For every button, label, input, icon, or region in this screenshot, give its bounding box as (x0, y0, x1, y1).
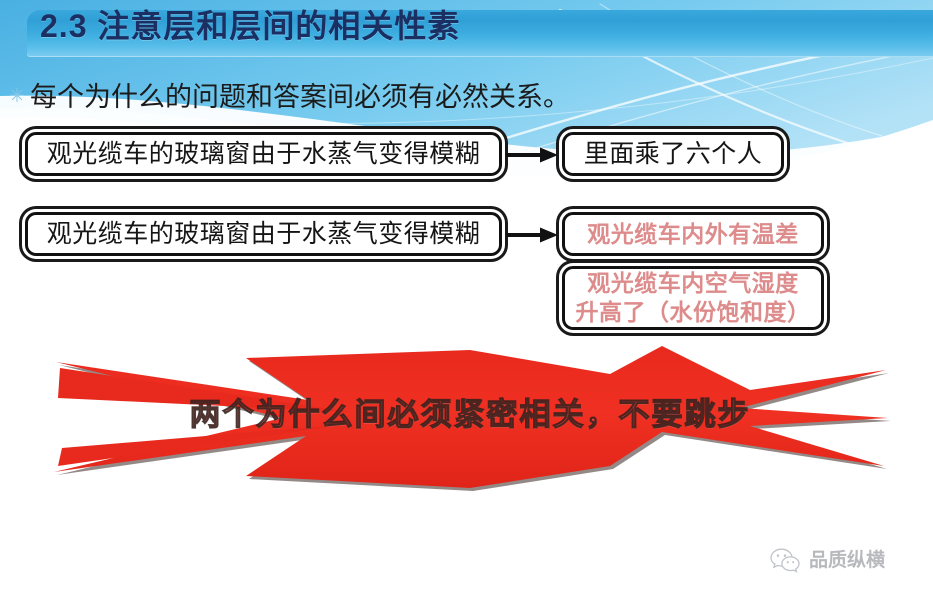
starburst-text: 两个为什么间必须紧密相关，不要跳步 (50, 396, 890, 434)
reason-box-1: 观光缆车内外有温差 (562, 212, 824, 256)
arrow-right-icon-1 (506, 145, 560, 165)
question-box-2: 观光缆车的玻璃窗由于水蒸气变得模糊 (25, 212, 502, 256)
question-box-2-label: 观光缆车的玻璃窗由于水蒸气变得模糊 (47, 219, 481, 249)
asterisk-bullet-icon: ✳ (8, 87, 26, 106)
reason-box-2-label: 观光缆车内空气湿度 升高了（水份饱和度） (576, 269, 811, 327)
starburst-callout: 两个为什么间必须紧密相关，不要跳步 (50, 340, 890, 492)
watermark-label: 品质纵横 (809, 550, 885, 572)
bullet-row: ✳ 每个为什么的问题和答案间必须有必然关系。 (8, 78, 908, 118)
question-box-1-label: 观光缆车的玻璃窗由于水蒸气变得模糊 (47, 139, 481, 169)
question-box-1: 观光缆车的玻璃窗由于水蒸气变得模糊 (25, 132, 502, 176)
wechat-icon (770, 548, 800, 574)
watermark: 品质纵横 (770, 543, 920, 579)
slide-canvas: 2.3 注意层和层间的相关性素 ✳ 每个为什么的问题和答案间必须有必然关系。 观… (0, 0, 933, 598)
answer-box-1: 里面乘了六个人 (562, 132, 784, 176)
reason-box-1-label: 观光缆车内外有温差 (587, 220, 799, 249)
reason-box-2: 观光缆车内空气湿度 升高了（水份饱和度） (562, 266, 824, 330)
arrow-right-icon-2 (506, 225, 560, 245)
page-title: 2.3 注意层和层间的相关性素 (40, 9, 460, 43)
answer-box-1-label: 里面乘了六个人 (584, 139, 763, 169)
bullet-text: 每个为什么的问题和答案间必须有必然关系。 (30, 78, 570, 116)
